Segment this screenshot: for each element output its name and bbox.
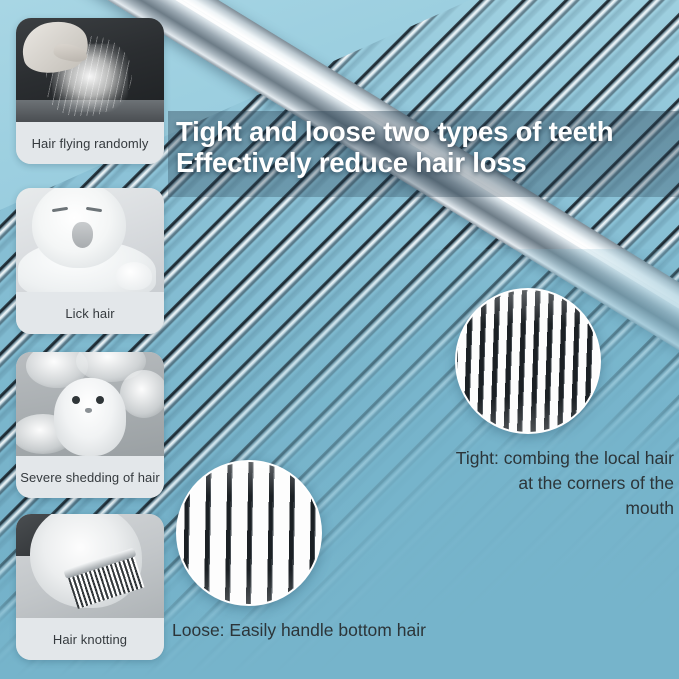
headline-line-2: Effectively reduce hair loss (176, 147, 676, 178)
tight-callout-caption: Tight: combing the local hair at the cor… (406, 446, 674, 521)
shed-fur-pile-icon (120, 370, 164, 418)
hand-pulling-flying-fur-photo (16, 18, 164, 122)
kitten-eye-left-icon (72, 396, 80, 404)
comb-in-knotted-fur-photo (16, 514, 164, 618)
problem-card-caption: Hair knotting (16, 618, 164, 660)
loose-caption-line-1: Loose: Easily handle bottom hair (172, 618, 502, 643)
problem-card-caption: Lick hair (16, 292, 164, 334)
loose-callout-caption: Loose: Easily handle bottom hair (172, 618, 502, 643)
problem-card-caption: Severe shedding of hair (16, 456, 164, 498)
kitten-icon (54, 378, 126, 456)
problem-card-hair-knotting: Hair knotting (16, 514, 164, 660)
cat-licking-fur-photo (16, 188, 164, 292)
kitten-eye-right-icon (96, 396, 104, 404)
kitten-with-shed-fur-photo (16, 352, 164, 456)
tight-caption-line-1: Tight: combing the local hair (406, 446, 674, 471)
cat-paw-icon (116, 262, 152, 290)
problem-card-severe-shedding: Severe shedding of hair (16, 352, 164, 498)
problem-card-caption: Hair flying randomly (16, 122, 164, 164)
closeup-gloss (457, 290, 599, 432)
tight-caption-line-3: mouth (406, 496, 674, 521)
tight-caption-line-2: at the corners of the (406, 471, 674, 496)
tight-comb-teeth-closeup (455, 288, 601, 434)
closeup-gloss (178, 462, 320, 604)
problem-card-hair-flying: Hair flying randomly (16, 18, 164, 164)
headline-line-1: Tight and loose two types of teeth (176, 116, 676, 147)
loose-comb-teeth-closeup (176, 460, 322, 606)
kitten-nose-icon (85, 408, 92, 413)
problem-card-lick-hair: Lick hair (16, 188, 164, 334)
product-feature-poster: Tight and loose two types of teeth Effec… (0, 0, 679, 679)
page-title: Tight and loose two types of teeth Effec… (176, 116, 676, 178)
cat-tongue-icon (72, 222, 93, 248)
